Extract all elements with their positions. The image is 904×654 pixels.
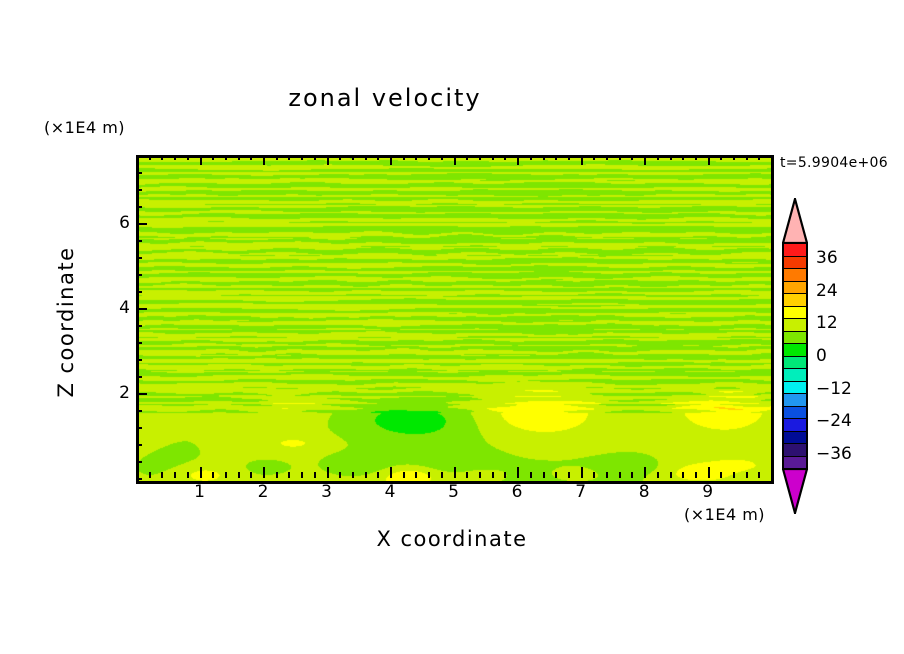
x-tick-label: 5: [434, 482, 474, 502]
colorbar-band: [784, 319, 806, 332]
x-minor-tick-top: [758, 155, 760, 160]
x-minor-tick: [187, 472, 189, 478]
x-minor-tick: [415, 472, 417, 478]
y-minor-tick: [136, 155, 142, 157]
y-minor-tick: [136, 206, 142, 208]
x-major-tick: [454, 467, 456, 478]
x-minor-tick-top: [238, 155, 240, 160]
x-major-tick-top: [454, 155, 456, 165]
x-minor-tick: [161, 472, 163, 478]
colorbar-band: [784, 244, 806, 257]
x-tick-label: 3: [307, 482, 347, 502]
colorbar-band: [784, 369, 806, 382]
x-minor-tick: [225, 472, 227, 478]
x-minor-tick: [492, 472, 494, 478]
colorbar-bands: [782, 242, 808, 470]
colorbar-tick-label: −36: [816, 444, 852, 464]
x-minor-tick-top: [174, 155, 176, 160]
colorbar-band: [784, 332, 806, 345]
y-minor-tick: [136, 444, 142, 446]
x-minor-tick: [720, 472, 722, 478]
x-tick-label: 7: [561, 482, 601, 502]
x-minor-tick: [377, 472, 379, 478]
x-minor-tick-top: [695, 155, 697, 160]
x-minor-tick-top: [466, 155, 468, 160]
x-tick-label: 2: [243, 482, 283, 502]
colorbar-band: [784, 457, 806, 469]
x-minor-tick-top: [339, 155, 341, 160]
x-minor-tick: [682, 472, 684, 478]
colorbar-under-arrow-icon: [782, 468, 808, 514]
colorbar-band: [784, 344, 806, 357]
x-minor-tick-top: [415, 155, 417, 160]
x-major-tick-top: [263, 155, 265, 165]
x-minor-tick-top: [365, 155, 367, 160]
x-minor-tick-top: [428, 155, 430, 160]
x-major-tick-top: [708, 155, 710, 165]
x-major-tick: [644, 467, 646, 478]
timestamp-label: t=5.9904e+06: [780, 155, 888, 171]
x-tick-label: 9: [688, 482, 728, 502]
x-minor-tick: [352, 472, 354, 478]
x-minor-tick-top: [631, 155, 633, 160]
x-minor-tick-top: [161, 155, 163, 160]
x-minor-tick: [606, 472, 608, 478]
x-major-tick: [517, 467, 519, 478]
x-minor-tick-top: [733, 155, 735, 160]
x-minor-tick: [504, 472, 506, 478]
y-minor-tick: [136, 376, 142, 378]
x-minor-tick-top: [479, 155, 481, 160]
colorbar-tick-label: 24: [816, 281, 838, 301]
x-minor-tick: [365, 472, 367, 478]
contour-field: [139, 158, 771, 481]
y-minor-tick: [136, 461, 142, 463]
x-major-tick-top: [327, 155, 329, 165]
x-minor-tick: [428, 472, 430, 478]
colorbar-tick-labels: 3624120−12−24−36: [816, 242, 886, 470]
colorbar-tick-label: −24: [816, 411, 852, 431]
y-major-tick: [136, 308, 147, 310]
x-minor-tick-top: [746, 155, 748, 160]
x-minor-tick: [339, 472, 341, 478]
x-minor-tick: [733, 472, 735, 478]
colorbar-tick-label: −12: [816, 379, 852, 399]
x-minor-tick-top: [530, 155, 532, 160]
colorbar-band: [784, 444, 806, 457]
x-minor-tick: [314, 472, 316, 478]
x-minor-tick: [466, 472, 468, 478]
y-minor-tick: [136, 291, 142, 293]
x-minor-tick-top: [720, 155, 722, 160]
colorbar-band: [784, 257, 806, 270]
x-minor-tick-top: [568, 155, 570, 160]
y-minor-tick: [136, 427, 142, 429]
x-minor-tick: [301, 472, 303, 478]
x-minor-tick-top: [593, 155, 595, 160]
x-minor-tick-top: [441, 155, 443, 160]
x-minor-tick: [441, 472, 443, 478]
x-axis-title: X coordinate: [136, 527, 768, 551]
x-minor-tick-top: [670, 155, 672, 160]
x-minor-tick-top: [619, 155, 621, 160]
x-minor-tick-top: [682, 155, 684, 160]
page-title: zonal velocity: [0, 84, 770, 112]
x-minor-tick-top: [606, 155, 608, 160]
x-minor-tick: [174, 472, 176, 478]
y-minor-tick: [136, 240, 142, 242]
x-major-tick: [581, 467, 583, 478]
figure-canvas: zonal velocity (×1E4 m) t=5.9904e+06 123…: [0, 0, 904, 654]
x-minor-tick: [746, 472, 748, 478]
colorbar-band: [784, 269, 806, 282]
y-axis-title: Z coordinate: [54, 232, 78, 412]
y-major-tick: [136, 393, 147, 395]
x-minor-tick: [758, 472, 760, 478]
x-major-tick-top: [581, 155, 583, 165]
x-minor-tick-top: [352, 155, 354, 160]
y-minor-tick: [136, 325, 142, 327]
colorbar-band: [784, 307, 806, 320]
x-minor-tick: [149, 472, 151, 478]
x-minor-tick: [568, 472, 570, 478]
x-tick-label: 6: [497, 482, 537, 502]
colorbar-band: [784, 394, 806, 407]
x-minor-tick: [276, 472, 278, 478]
x-minor-tick: [530, 472, 532, 478]
x-major-tick-top: [200, 155, 202, 165]
x-axis-units-label: (×1E4 m): [684, 505, 765, 524]
y-minor-tick: [136, 478, 142, 480]
y-tick-label: 6: [96, 213, 130, 233]
x-major-tick: [708, 467, 710, 478]
colorbar-band: [784, 432, 806, 445]
colorbar-tick-label: 36: [816, 248, 838, 268]
x-minor-tick: [543, 472, 545, 478]
x-minor-tick: [631, 472, 633, 478]
x-minor-tick: [695, 472, 697, 478]
colorbar-band: [784, 294, 806, 307]
x-minor-tick-top: [149, 155, 151, 160]
colorbar-band: [784, 419, 806, 432]
x-minor-tick-top: [555, 155, 557, 160]
x-minor-tick-top: [314, 155, 316, 160]
x-minor-tick: [479, 472, 481, 478]
y-major-tick: [136, 223, 147, 225]
x-major-tick-top: [517, 155, 519, 165]
x-tick-label: 8: [624, 482, 664, 502]
x-minor-tick: [288, 472, 290, 478]
x-major-tick-top: [644, 155, 646, 165]
y-minor-tick: [136, 172, 142, 174]
colorbar-over-arrow-icon: [782, 198, 808, 244]
y-minor-tick: [136, 359, 142, 361]
x-minor-tick: [555, 472, 557, 478]
x-minor-tick-top: [492, 155, 494, 160]
x-minor-tick-top: [250, 155, 252, 160]
colorbar-band: [784, 282, 806, 295]
y-minor-tick: [136, 189, 142, 191]
x-major-tick: [200, 467, 202, 478]
colorbar-band: [784, 382, 806, 395]
x-minor-tick: [238, 472, 240, 478]
x-tick-label: 1: [180, 482, 220, 502]
colorbar-tick-label: 12: [816, 313, 838, 333]
x-minor-tick-top: [187, 155, 189, 160]
x-minor-tick-top: [377, 155, 379, 160]
y-axis-units-label: (×1E4 m): [44, 118, 125, 137]
x-minor-tick-top: [276, 155, 278, 160]
x-minor-tick-top: [212, 155, 214, 160]
x-minor-tick: [619, 472, 621, 478]
x-minor-tick: [212, 472, 214, 478]
x-major-tick: [390, 467, 392, 478]
x-major-tick: [263, 467, 265, 478]
x-minor-tick-top: [543, 155, 545, 160]
x-minor-tick: [657, 472, 659, 478]
x-minor-tick-top: [403, 155, 405, 160]
x-minor-tick-top: [225, 155, 227, 160]
colorbar-band: [784, 357, 806, 370]
y-minor-tick: [136, 257, 142, 259]
x-tick-label: 4: [370, 482, 410, 502]
colorbar-tick-label: 0: [816, 346, 827, 366]
y-tick-label: 2: [96, 383, 130, 403]
x-minor-tick: [593, 472, 595, 478]
x-minor-tick-top: [301, 155, 303, 160]
colorbar: 3624120−12−24−36: [780, 198, 900, 518]
x-major-tick-top: [390, 155, 392, 165]
x-minor-tick: [250, 472, 252, 478]
x-minor-tick-top: [657, 155, 659, 160]
x-minor-tick-top: [288, 155, 290, 160]
x-minor-tick: [670, 472, 672, 478]
y-minor-tick: [136, 274, 142, 276]
x-major-tick: [327, 467, 329, 478]
x-minor-tick: [403, 472, 405, 478]
x-minor-tick-top: [504, 155, 506, 160]
y-minor-tick: [136, 410, 142, 412]
y-tick-label: 4: [96, 298, 130, 318]
plot-area: [136, 155, 774, 484]
y-minor-tick: [136, 342, 142, 344]
colorbar-band: [784, 407, 806, 420]
